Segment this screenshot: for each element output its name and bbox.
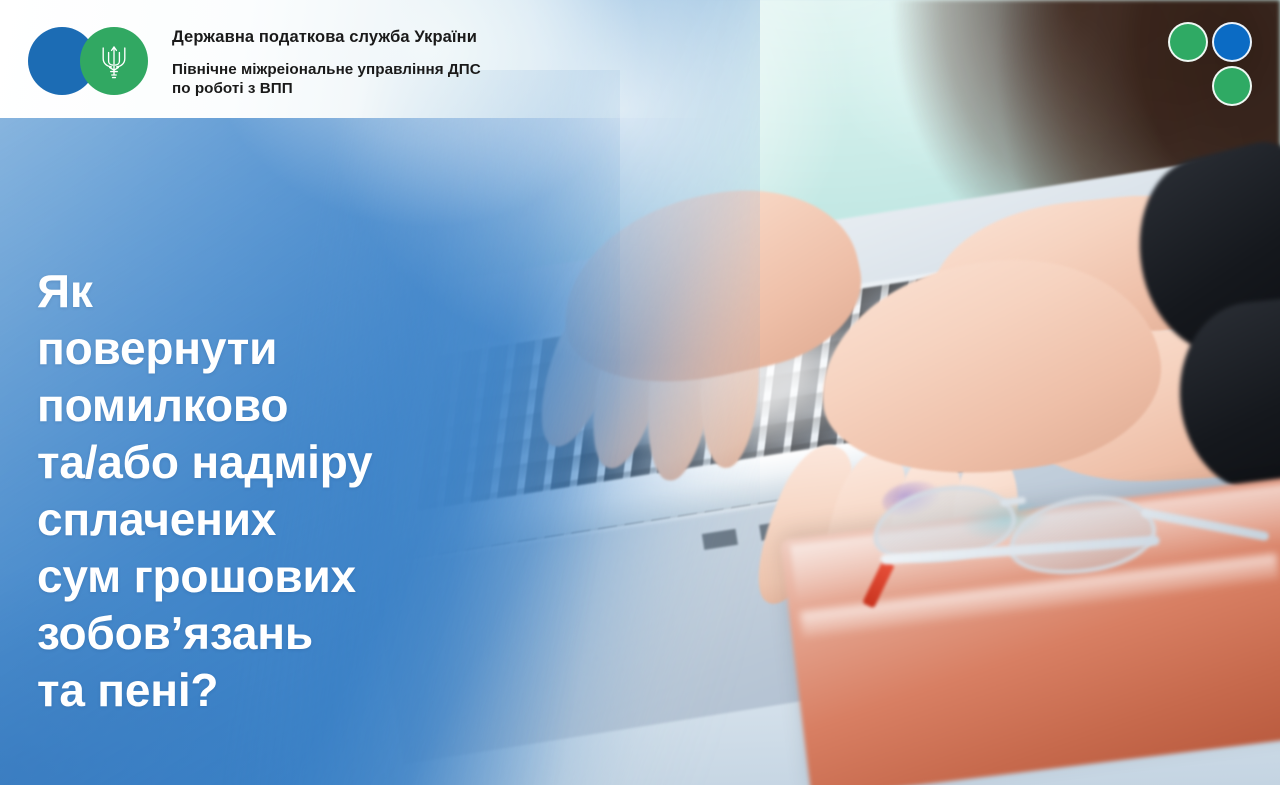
headline-line: зобов’язань bbox=[37, 605, 507, 662]
agency-logo bbox=[28, 27, 164, 95]
headline-line: Як bbox=[37, 263, 507, 320]
organization-name: Державна податкова служба України bbox=[172, 28, 732, 48]
ukraine-trident-icon bbox=[99, 42, 129, 80]
headline-line: та/або надміру bbox=[37, 434, 507, 491]
header: Державна податкова служба України Північ… bbox=[0, 0, 760, 120]
headline-line: та пені? bbox=[37, 662, 507, 719]
blue-circle-top-right-icon bbox=[1212, 22, 1252, 62]
logo-green-circle-icon bbox=[80, 27, 148, 95]
headline-line: сум грошових bbox=[37, 548, 507, 605]
headline-line: сплачених bbox=[37, 491, 507, 548]
green-circle-top-left-icon bbox=[1168, 22, 1208, 62]
department-name: Північне міжреіональне управління ДПС по… bbox=[172, 60, 732, 99]
poster-canvas: Державна податкова служба України Північ… bbox=[0, 0, 1280, 785]
decor-circles bbox=[1168, 22, 1258, 112]
headline: Як повернути помилково та/або надміру сп… bbox=[37, 263, 507, 719]
header-titles: Державна податкова служба України Північ… bbox=[172, 28, 732, 99]
headline-line: повернути bbox=[37, 320, 507, 377]
green-circle-bottom-right-icon bbox=[1212, 66, 1252, 106]
headline-line: помилково bbox=[37, 377, 507, 434]
